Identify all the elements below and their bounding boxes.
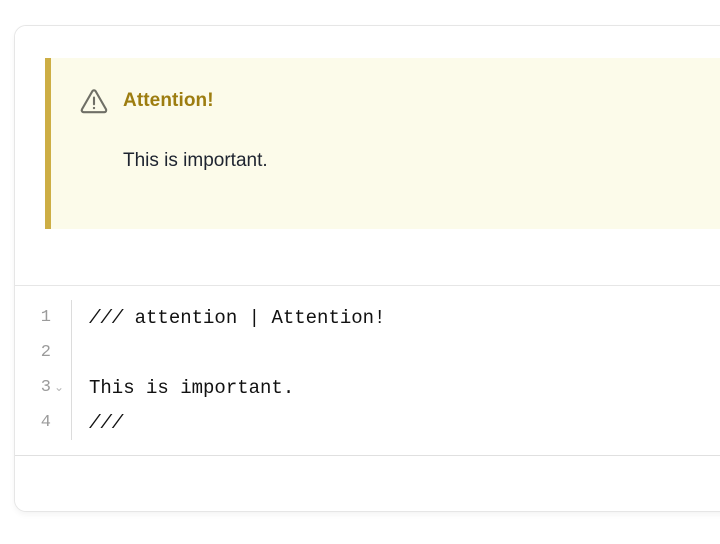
- admonition-title-row: Attention!: [79, 86, 214, 116]
- admonition-attention: Attention! This is important.: [45, 58, 720, 229]
- code-pane[interactable]: 1 /// attention | Attention! 2: [15, 286, 720, 456]
- code-line-row[interactable]: 2: [15, 335, 720, 370]
- fold-chevron-icon[interactable]: ⌄: [51, 382, 67, 394]
- admonition-body: This is important.: [123, 150, 268, 172]
- line-number: 4: [39, 413, 51, 432]
- code-line-text[interactable]: ///: [72, 412, 123, 434]
- code-line-row[interactable]: 1 /// attention | Attention!: [15, 300, 720, 335]
- code-fence-marker: ///: [89, 307, 123, 329]
- preview-pane: Attention! This is important.: [15, 26, 720, 286]
- line-number: 3: [39, 378, 51, 397]
- code-line-text[interactable]: /// attention | Attention!: [72, 307, 385, 329]
- screenshot-stage: Attention! This is important. 1 /// atte…: [0, 0, 720, 544]
- warning-triangle-icon: [79, 86, 109, 116]
- code-line-row[interactable]: 4 ///: [15, 405, 720, 440]
- code-line-content: This is important.: [89, 377, 294, 399]
- line-gutter[interactable]: 4: [15, 413, 71, 432]
- line-number: 2: [39, 343, 51, 362]
- gutter-separator: [71, 335, 72, 370]
- code-line-content: attention | Attention!: [123, 307, 385, 329]
- admonition-title: Attention!: [123, 90, 214, 112]
- card-footer: [15, 457, 720, 511]
- line-number: 1: [39, 308, 51, 327]
- code-line-row[interactable]: 3 ⌄ This is important.: [15, 370, 720, 405]
- line-gutter[interactable]: 2: [15, 343, 71, 362]
- code-line-text[interactable]: This is important.: [72, 377, 294, 399]
- example-card: Attention! This is important. 1 /// atte…: [14, 25, 720, 512]
- code-fence-marker: ///: [89, 412, 123, 434]
- line-gutter[interactable]: 1: [15, 308, 71, 327]
- code-lines: 1 /// attention | Attention! 2: [15, 300, 720, 440]
- line-gutter[interactable]: 3 ⌄: [15, 378, 71, 397]
